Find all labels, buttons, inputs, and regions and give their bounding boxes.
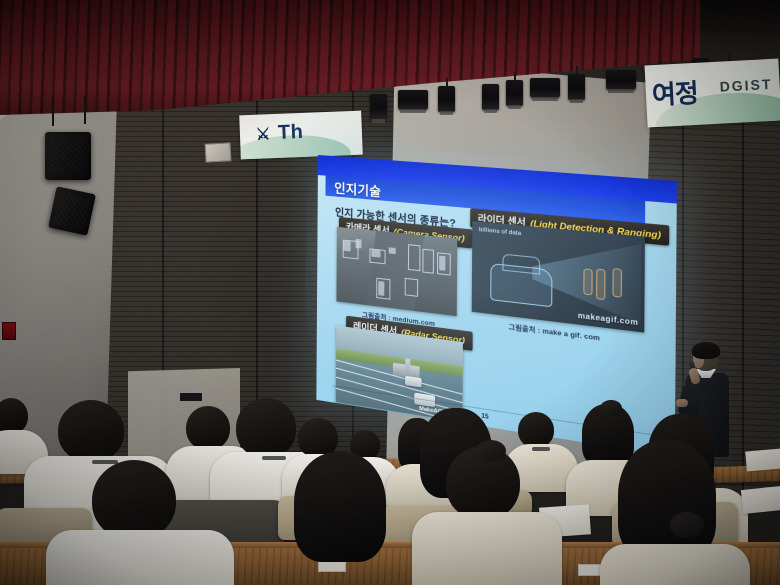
- door-sign: [180, 393, 202, 401]
- fire-alarm-box: [2, 322, 16, 340]
- lidar-point-cloud-car: [490, 263, 553, 307]
- slide-title: 인지기술: [325, 176, 381, 200]
- stage-light-wide: [606, 70, 636, 90]
- dgist-logo-text: DGIST: [719, 76, 773, 95]
- presenter-hair: [692, 342, 720, 359]
- stage-light: [370, 94, 387, 120]
- stage-light-wide: [530, 78, 560, 98]
- stage-light: [482, 84, 499, 110]
- banner-left-text: Th: [277, 121, 303, 145]
- presenter-hand-holding-clicker: [676, 399, 688, 407]
- handout-paper[interactable]: [741, 486, 780, 514]
- institution-logo-icon: ⚔: [256, 126, 271, 144]
- camera-sensor-image: [336, 227, 457, 316]
- venue-banner-right: 여정 DGIST: [644, 59, 780, 128]
- banner-right-korean-text: 여정: [651, 73, 699, 112]
- stage-light: [506, 80, 523, 106]
- stage-light: [438, 86, 455, 112]
- lidar-image-note: billions of data: [479, 227, 521, 237]
- ceiling-vent: [205, 142, 232, 162]
- stage-light: [568, 74, 585, 100]
- lidar-sensor-image: billions of data makeagif.com: [472, 221, 645, 333]
- lecture-hall-photo: ⚔ Th 여정 DGIST 인지기술 인지 가능한 센서의 종류는? 카메라 센…: [0, 0, 780, 585]
- ceiling-speaker-upper: [45, 132, 91, 180]
- venue-banner-left: ⚔ Th: [239, 111, 363, 160]
- stage-light-wide: [398, 90, 428, 110]
- ceiling-speaker-lower: [48, 186, 96, 235]
- handout-paper[interactable]: [745, 448, 780, 471]
